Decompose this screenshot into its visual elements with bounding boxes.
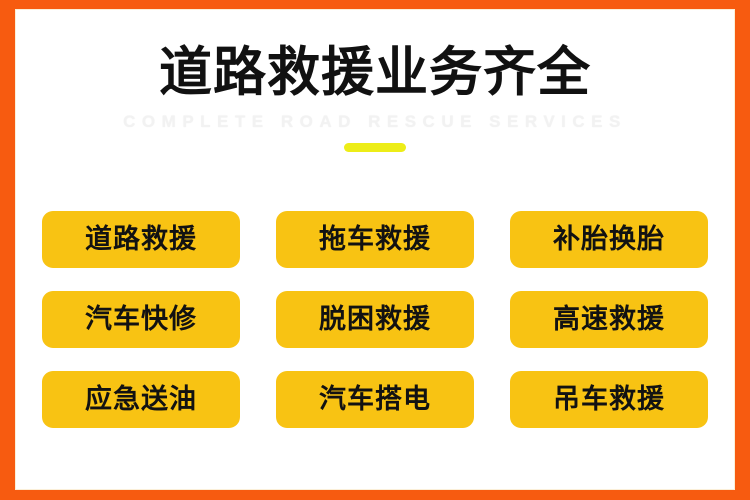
road-rescue-poster: 道路救援业务齐全 COMPLETE ROAD RESCUE SERVICES 道… [0,0,750,500]
poster-content: 道路救援业务齐全 COMPLETE ROAD RESCUE SERVICES 道… [16,10,734,489]
frame-band-top [0,0,750,9]
service-button-crane-rescue[interactable]: 吊车救援 [510,371,708,428]
service-button-label: 应急送油 [85,386,197,413]
service-button-grid: 道路救援 拖车救援 补胎换胎 汽车快修 脱困救援 高速救援 应急送油 汽车搭电 [42,211,708,428]
heading-block: 道路救援业务齐全 COMPLETE ROAD RESCUE SERVICES [16,42,734,152]
service-button-tire-repair-replace[interactable]: 补胎换胎 [510,211,708,268]
service-button-label: 汽车搭电 [319,386,431,413]
service-button-label: 汽车快修 [85,306,197,333]
service-button-label: 吊车救援 [553,386,665,413]
service-button-label: 道路救援 [85,226,197,253]
service-button-road-rescue[interactable]: 道路救援 [42,211,240,268]
service-button-extrication-rescue[interactable]: 脱困救援 [276,291,474,348]
service-button-emergency-fuel-delivery[interactable]: 应急送油 [42,371,240,428]
service-button-label: 拖车救援 [319,226,431,253]
service-button-quick-car-repair[interactable]: 汽车快修 [42,291,240,348]
service-button-label: 补胎换胎 [553,226,665,253]
frame-band-left [0,0,15,500]
accent-underline-bar [344,143,406,152]
service-button-jump-start[interactable]: 汽车搭电 [276,371,474,428]
service-button-label: 脱困救援 [319,306,431,333]
frame-band-right [735,0,750,500]
frame-band-bottom [0,490,750,500]
page-title: 道路救援业务齐全 [16,42,734,103]
page-subtitle: COMPLETE ROAD RESCUE SERVICES [16,112,734,132]
service-button-highway-rescue[interactable]: 高速救援 [510,291,708,348]
service-button-label: 高速救援 [553,306,665,333]
service-button-tow-rescue[interactable]: 拖车救援 [276,211,474,268]
